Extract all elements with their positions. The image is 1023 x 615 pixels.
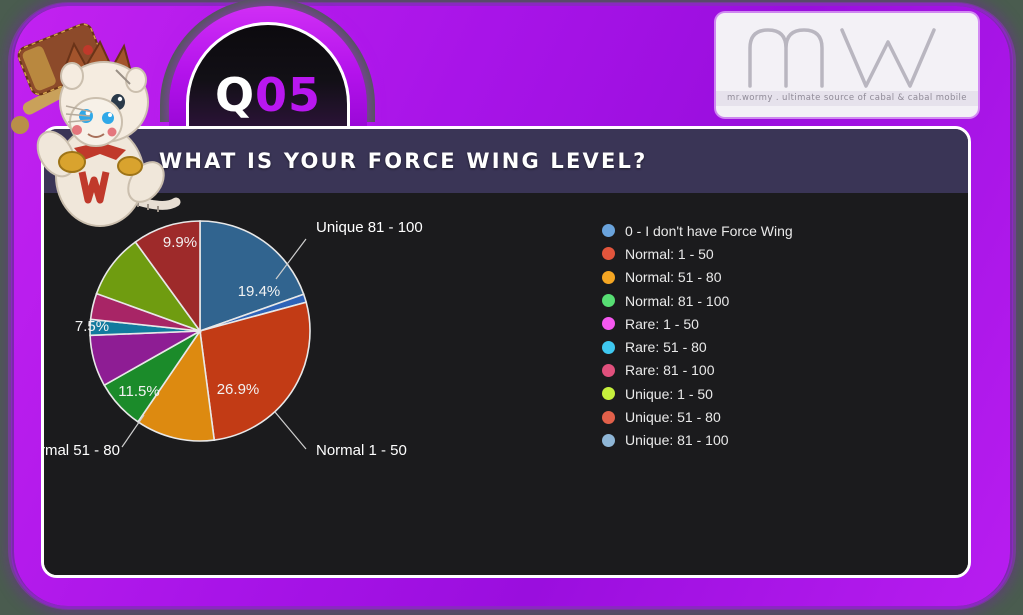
question-badge-letter: Q — [215, 68, 255, 122]
legend-item-label: Normal: 81 - 100 — [625, 293, 729, 309]
poll-card-body: 19.4%26.9%11.5%7.5%9.9%Unique 81 - 100No… — [44, 193, 968, 578]
legend-color-swatch — [602, 271, 615, 284]
legend-color-swatch — [602, 224, 615, 237]
brand-tagline: mr.wormy . ultimate source of cabal & ca… — [716, 91, 978, 106]
pie-callout-label: Unique 81 - 100 — [316, 219, 423, 236]
legend-item[interactable]: Normal: 51 - 80 — [602, 266, 962, 289]
legend-item[interactable]: Normal: 81 - 100 — [602, 289, 962, 312]
legend-item[interactable]: 0 - I don't have Force Wing — [602, 219, 962, 242]
legend-color-swatch — [602, 364, 615, 377]
pie-callout-label: Normal 1 - 50 — [316, 442, 407, 459]
pie-callout-label: Normal 51 - 80 — [44, 442, 120, 459]
pie-slice-percentage: 11.5% — [118, 383, 159, 400]
legend-item[interactable]: Normal: 1 - 50 — [602, 242, 962, 265]
legend-color-swatch — [602, 434, 615, 447]
pie-slice-percentage: 19.4% — [238, 283, 281, 300]
question-badge-number: 05 — [255, 68, 321, 122]
legend-item[interactable]: Unique: 81 - 100 — [602, 429, 962, 452]
legend-item[interactable]: Rare: 1 - 50 — [602, 312, 962, 335]
legend-item-label: Normal: 1 - 50 — [625, 246, 714, 262]
legend-item[interactable]: Rare: 51 - 80 — [602, 335, 962, 358]
pie-slice-percentage: 26.9% — [217, 381, 260, 398]
legend-item-label: Rare: 81 - 100 — [625, 362, 715, 378]
legend-item-label: Unique: 81 - 100 — [625, 432, 729, 448]
legend-color-swatch — [602, 411, 615, 424]
callout-leader-line — [122, 415, 144, 447]
poll-slide: Q05 mr.wormy . ultimate source of cabal … — [0, 0, 1023, 615]
legend-item[interactable]: Unique: 51 - 80 — [602, 405, 962, 428]
legend-item[interactable]: Rare: 81 - 100 — [602, 359, 962, 382]
legend-item-label: Unique: 1 - 50 — [625, 386, 713, 402]
chart-legend: 0 - I don't have Force WingNormal: 1 - 5… — [602, 219, 962, 452]
pie-slice-percentage: 7.5% — [75, 318, 109, 335]
mw-logo-icon — [742, 15, 952, 91]
legend-color-swatch — [602, 317, 615, 330]
page-title: WHAT IS YOUR FORCE WING LEVEL? — [159, 149, 648, 173]
pie-slice-percentage: 9.9% — [163, 234, 197, 251]
pie-slices — [90, 221, 310, 441]
question-badge-text: Q05 — [215, 72, 321, 118]
legend-color-swatch — [602, 341, 615, 354]
legend-color-swatch — [602, 387, 615, 400]
legend-color-swatch — [602, 294, 615, 307]
legend-item-label: Normal: 51 - 80 — [625, 269, 721, 285]
legend-color-swatch — [602, 247, 615, 260]
callout-leader-line — [275, 412, 306, 449]
poll-card: WHAT IS YOUR FORCE WING LEVEL? 19.4%26.9… — [41, 126, 971, 578]
legend-item-label: 0 - I don't have Force Wing — [625, 223, 793, 239]
pie-chart: 19.4%26.9%11.5%7.5%9.9%Unique 81 - 100No… — [44, 193, 604, 578]
poll-card-header: WHAT IS YOUR FORCE WING LEVEL? — [44, 129, 968, 193]
legend-item-label: Rare: 1 - 50 — [625, 316, 699, 332]
legend-item-label: Unique: 51 - 80 — [625, 409, 721, 425]
legend-item[interactable]: Unique: 1 - 50 — [602, 382, 962, 405]
brand-logo[interactable]: mr.wormy . ultimate source of cabal & ca… — [716, 13, 978, 117]
legend-item-label: Rare: 51 - 80 — [625, 339, 707, 355]
